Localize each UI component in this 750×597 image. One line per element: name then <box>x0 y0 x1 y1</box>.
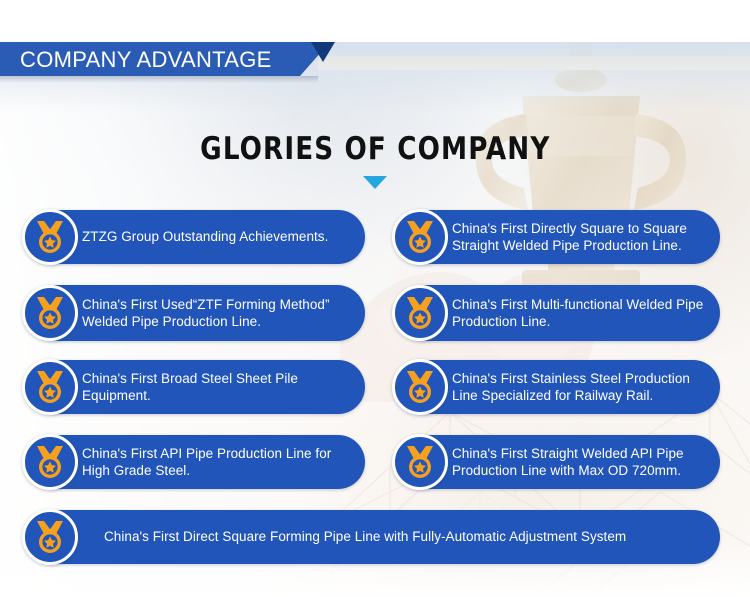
achievement-text: China's First Stainless Steel Production… <box>400 370 720 405</box>
achievement-pill[interactable]: China's First Used“ZTF Forming Method” W… <box>30 285 365 341</box>
medal-icon <box>392 434 448 490</box>
company-advantage-page: COMPANY ADVANTAGE GLORIES OF COMPANY ZTZ… <box>0 0 750 597</box>
achievement-pill[interactable]: China's First Directly Square to Square … <box>400 210 720 264</box>
achievement-pill[interactable]: ZTZG Group Outstanding Achievements. <box>30 210 365 264</box>
medal-icon <box>22 434 78 490</box>
medal-icon <box>392 359 448 415</box>
achievement-text: China's First Multi-functional Welded Pi… <box>400 296 720 331</box>
medal-icon <box>392 209 448 265</box>
achievement-text: China's First Used“ZTF Forming Method” W… <box>30 296 365 331</box>
achievement-text: China's First API Pipe Production Line f… <box>30 445 365 480</box>
achievement-text: China's First Straight Welded API Pipe P… <box>400 445 720 480</box>
medal-icon <box>22 509 78 565</box>
achievements-list: ZTZG Group Outstanding Achievements. Chi… <box>0 0 750 597</box>
achievement-pill[interactable]: China's First API Pipe Production Line f… <box>30 435 365 489</box>
medal-icon <box>22 285 78 341</box>
medal-icon <box>22 359 78 415</box>
achievement-text: China's First Direct Square Forming Pipe… <box>30 528 642 546</box>
achievement-text: China's First Broad Steel Sheet Pile Equ… <box>30 370 365 405</box>
achievement-pill[interactable]: China's First Straight Welded API Pipe P… <box>400 435 720 489</box>
achievement-pill[interactable]: China's First Direct Square Forming Pipe… <box>30 510 720 564</box>
achievement-pill[interactable]: China's First Stainless Steel Production… <box>400 360 720 414</box>
medal-icon <box>22 209 78 265</box>
medal-icon <box>392 285 448 341</box>
achievement-text: China's First Directly Square to Square … <box>400 220 720 255</box>
achievement-pill[interactable]: China's First Broad Steel Sheet Pile Equ… <box>30 360 365 414</box>
achievement-pill[interactable]: China's First Multi-functional Welded Pi… <box>400 285 720 341</box>
